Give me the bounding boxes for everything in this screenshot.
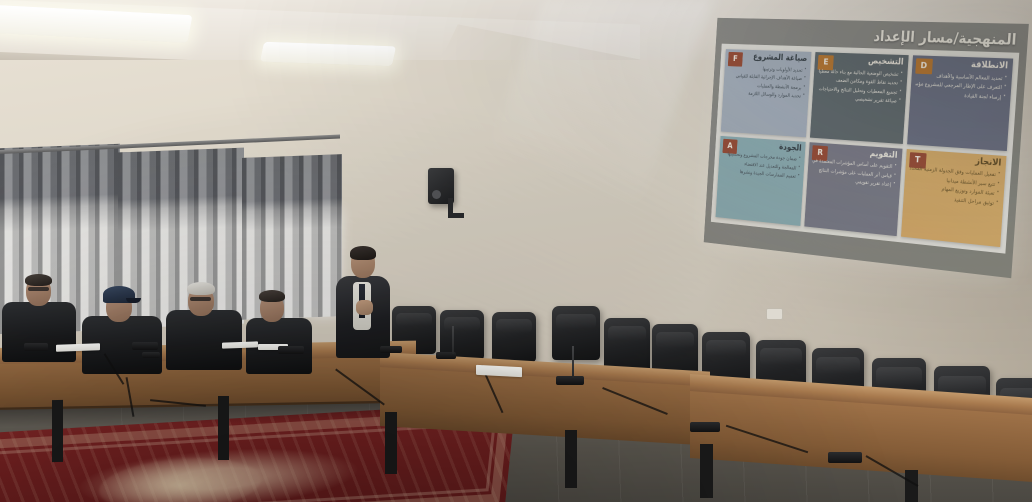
card-bullets-e: تشخيص الوضعية الحالية مع بناء حالة معطيا… <box>817 68 903 106</box>
microphone <box>132 342 158 350</box>
attendee-3 <box>166 282 242 368</box>
card-bullets-r: التقويم على أساس المؤشرات المعتمدة في ال… <box>811 158 896 190</box>
wall-outlet-icon <box>766 308 783 320</box>
microphone <box>380 346 402 353</box>
attendee-body <box>166 310 242 370</box>
glasses-icon <box>28 287 49 291</box>
speaker-bracket <box>448 198 464 218</box>
microphone <box>556 376 584 385</box>
attendee-hair <box>259 290 285 302</box>
presenter <box>332 246 394 358</box>
microphone <box>828 452 862 463</box>
conference-room-photo: المنهجية/مسار الإعداد F صياغة المشروع تح… <box>0 0 1032 502</box>
chair <box>552 306 600 360</box>
slide: المنهجية/مسار الإعداد F صياغة المشروع تح… <box>704 18 1029 278</box>
slide-card-e: E التشخيص تشخيص الوضعية الحالية مع بناء … <box>810 52 908 143</box>
microphone-stem <box>572 346 574 378</box>
attendee-hair <box>187 282 215 295</box>
speaker-cone-icon <box>432 190 441 199</box>
card-bullets-t: تفعيل العمليات وفق الجدولة الزمنية المحد… <box>907 165 1000 208</box>
attendee-body <box>2 302 76 362</box>
table-leg <box>700 444 713 498</box>
table-leg <box>385 412 397 474</box>
slide-card-f: F صياغة المشروع تحديد الأولويات وترتيبها… <box>721 49 812 137</box>
microphone <box>24 343 48 351</box>
chair <box>604 318 650 372</box>
glasses-icon <box>190 297 211 301</box>
microphone <box>142 352 160 358</box>
projection-screen: المنهجية/مسار الإعداد F صياغة المشروع تح… <box>704 18 1029 278</box>
slide-card-grid: F صياغة المشروع تحديد الأولويات وترتيبها… <box>716 49 1014 247</box>
microphone <box>690 422 720 432</box>
slide-body: F صياغة المشروع تحديد الأولويات وترتيبها… <box>711 44 1019 254</box>
slide-card-r: R التقويم التقويم على أساس المؤشرات المع… <box>805 142 903 236</box>
attendee-2 <box>82 286 162 372</box>
chair <box>492 312 536 362</box>
table-leg <box>52 400 63 462</box>
cap-brim-icon <box>126 298 141 303</box>
card-bullets-f: تحديد الأولويات وترتيبها صياغة الأهداف ا… <box>727 64 807 101</box>
slide-card-a: A الجودة ضمان جودة مخرجات المشروع وتحسين… <box>716 135 806 226</box>
table-leg <box>565 430 577 488</box>
presenter-hands <box>356 300 373 315</box>
attendee-4 <box>246 290 312 370</box>
microphone-stem <box>452 326 454 354</box>
papers <box>222 341 258 348</box>
microphone <box>278 346 304 354</box>
attendee-hair <box>25 274 52 286</box>
card-bullets-d: تحديد المعالم الأساسية والأهداف التعرف ع… <box>914 72 1007 103</box>
slide-card-t: T الانجاز تفعيل العمليات وفق الجدولة الز… <box>901 149 1007 248</box>
card-bullets-a: ضمان جودة مخرجات المشروع وتحسينها المعال… <box>722 151 801 182</box>
table-leg <box>218 396 229 460</box>
slide-card-d: D الانطلاقة تحديد المعالم الأساسية والأه… <box>907 55 1013 150</box>
presenter-hair <box>350 246 376 260</box>
